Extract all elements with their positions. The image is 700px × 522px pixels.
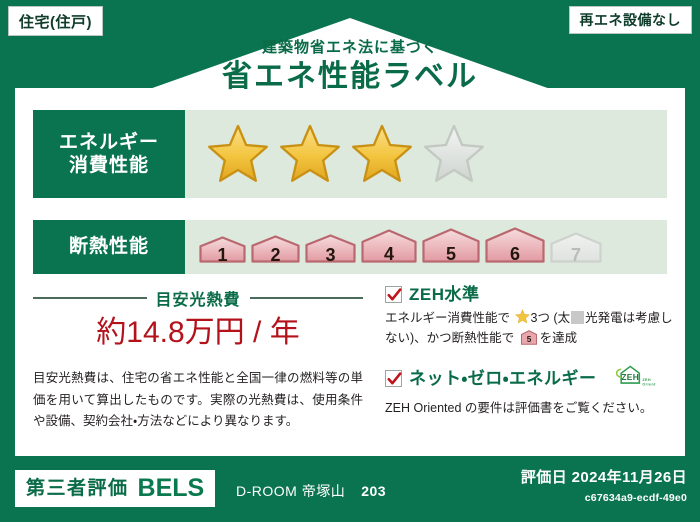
utility-cost-heading: 目安光熱費	[33, 286, 363, 310]
label-title-main: 省エネ性能ラベル	[0, 62, 700, 92]
insulation-grade-7: 7	[550, 232, 602, 268]
energy-performance-label-line2: 消費性能	[69, 154, 149, 177]
building-type-tag: 住宅(住戸)	[8, 6, 103, 36]
star-rating	[185, 110, 667, 198]
house-icon	[550, 232, 602, 263]
star-icon-filled	[351, 123, 413, 185]
zeh-standard-heading-text: ZEH水準	[409, 286, 480, 303]
star-icon-filled	[207, 123, 269, 185]
zeh-standard-text-1: エネルギー消費性能で	[385, 311, 510, 325]
insulation-grade-scale: 1234567	[199, 227, 602, 268]
check-icon[interactable]	[385, 370, 402, 387]
zeh-standard-text-2: 3つ (太	[531, 311, 571, 325]
zeh-standard-item: ZEH水準 エネルギー消費性能で 3つ (太光発電は考慮しない)、かつ断熱性能で…	[385, 286, 673, 352]
zeh-column: ZEH水準 エネルギー消費性能で 3つ (太光発電は考慮しない)、かつ断熱性能で…	[385, 286, 673, 430]
utility-cost-block: 目安光熱費 約14.8万円 / 年	[33, 286, 363, 349]
utility-cost-amount: 約14.8万円 / 年	[33, 317, 363, 349]
house-icon	[361, 229, 417, 263]
property-unit-text: 203	[361, 483, 386, 499]
net-zero-energy-body: ZEH Oriented の要件は評価書をご覧ください。	[385, 398, 673, 418]
redacted-character	[571, 311, 584, 324]
insulation-grade-3: 3	[305, 234, 356, 268]
zeh-standard-text-4: を達成	[540, 331, 578, 345]
property-name-text: D-ROOM 帝塚山	[236, 483, 345, 499]
zeh-standard-body: エネルギー消費性能で 3つ (太光発電は考慮しない)、かつ断熱性能で 5 を達成	[385, 308, 673, 352]
insulation-performance-row: 断熱性能 1234567	[33, 220, 667, 274]
energy-performance-label-line1: エネルギー	[59, 131, 159, 154]
zeh-logo-text: ZEH	[621, 372, 639, 382]
evaluation-id: c67634a9-ecdf-49e0	[521, 492, 687, 504]
insulation-grade-4: 4	[361, 229, 417, 268]
label-footer: 第三者評価 BELS D-ROOM 帝塚山203 評価日 2024年11月26日…	[0, 456, 700, 522]
utility-cost-note: 目安光熱費は、住宅の省エネ性能と全国一律の燃料等の単価を用いて算出したものです。…	[33, 368, 363, 433]
house-icon	[251, 235, 300, 263]
star-icon-filled	[279, 123, 341, 185]
house-icon	[199, 236, 246, 263]
bels-badge-jp: 第三者評価	[26, 479, 129, 498]
net-zero-energy-item: ネット・ゼロ・エネルギー ZEH ZEH Oriented ZEH Orient…	[385, 364, 673, 418]
star-icon	[515, 309, 530, 324]
insulation-grade-area: 1234567	[185, 220, 667, 274]
label-title-sub: 建築物省エネ法に基づく	[0, 40, 700, 55]
house-icon	[422, 228, 480, 263]
utility-cost-heading-text: 目安光熱費	[156, 286, 241, 310]
insulation-grade-badge-inline-text: 5	[526, 335, 531, 344]
insulation-grade-1: 1	[199, 236, 246, 268]
bels-badge-en: BELS	[138, 476, 205, 501]
renewable-energy-tag: 再エネ設備なし	[569, 6, 693, 34]
zeh-logo-sub-line1: ZEH	[642, 377, 651, 381]
zeh-logo-sub-line2: Oriented	[642, 382, 656, 386]
insulation-performance-label-text: 断熱性能	[69, 235, 149, 258]
evaluation-info: 評価日 2024年11月26日 c67634a9-ecdf-49e0	[521, 470, 687, 504]
label-title: 建築物省エネ法に基づく 省エネ性能ラベル	[0, 40, 700, 92]
energy-performance-label: エネルギー 消費性能	[33, 110, 185, 198]
check-icon[interactable]	[385, 286, 402, 303]
insulation-grade-badge-inline: 5	[520, 330, 538, 351]
insulation-grade-2: 2	[251, 235, 300, 268]
zeh-standard-heading: ZEH水準	[385, 286, 673, 303]
evaluation-date: 評価日 2024年11月26日	[521, 470, 687, 487]
house-icon	[305, 234, 356, 263]
insulation-grade-6: 6	[485, 227, 545, 268]
bels-badge: 第三者評価 BELS	[15, 470, 215, 507]
zeh-oriented-logo-icon: ZEH ZEH Oriented	[606, 364, 656, 393]
energy-performance-row: エネルギー 消費性能	[33, 110, 667, 198]
star-icon-empty	[423, 123, 485, 185]
property-name: D-ROOM 帝塚山203	[236, 481, 386, 501]
net-zero-energy-heading-text: ネット・ゼロ・エネルギー	[409, 370, 597, 387]
rule-left	[33, 297, 147, 299]
energy-performance-label: 住宅(住戸) 再エネ設備なし 建築物省エネ法に基づく 省エネ性能ラベル エネルギ…	[0, 0, 700, 522]
rule-right	[250, 297, 364, 299]
house-icon	[485, 227, 545, 263]
net-zero-energy-heading: ネット・ゼロ・エネルギー ZEH ZEH Oriented	[385, 364, 673, 393]
insulation-grade-5: 5	[422, 228, 480, 268]
insulation-performance-label: 断熱性能	[33, 220, 185, 274]
